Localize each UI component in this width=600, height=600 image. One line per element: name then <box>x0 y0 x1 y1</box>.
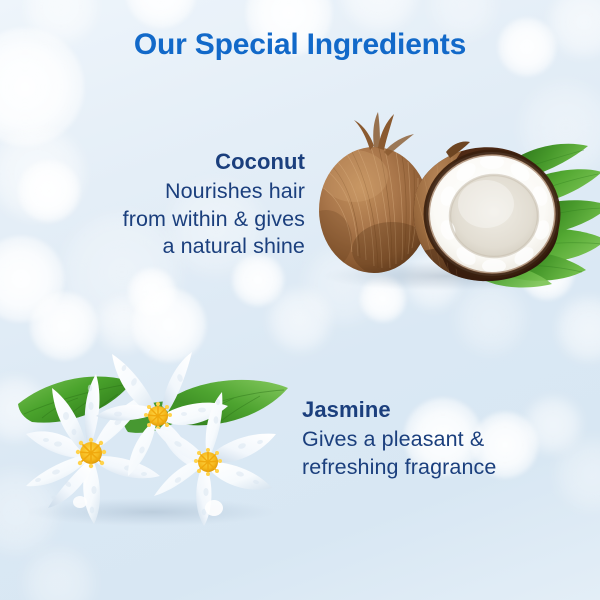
jasmine-text-block: Jasmine Gives a pleasant & refreshing fr… <box>302 396 582 481</box>
stamen-cluster <box>144 402 172 430</box>
jasmine-description-line: Gives a pleasant & <box>302 426 582 454</box>
bokeh-circle <box>132 288 206 362</box>
coconut-title: Coconut <box>35 148 305 176</box>
water-droplet <box>73 496 87 508</box>
jasmine-title: Jasmine <box>302 396 582 424</box>
coconut-description: Nourishes hair from within & gives a nat… <box>35 178 305 261</box>
coconut-text-block: Coconut Nourishes hair from within & giv… <box>35 148 305 261</box>
bokeh-circle <box>30 292 98 360</box>
water-droplet <box>205 500 223 516</box>
coconut-description-line: Nourishes hair <box>35 178 305 206</box>
coconut-description-line: from within & gives <box>35 206 305 234</box>
jasmine-shadow <box>26 498 278 526</box>
bokeh-circle <box>556 296 600 362</box>
bokeh-circle <box>24 548 94 600</box>
jasmine-illustration <box>6 352 298 527</box>
bokeh-circle <box>456 284 526 354</box>
ingredients-banner: Our Special Ingredients <box>0 0 600 600</box>
stamen-cluster <box>76 438 106 468</box>
bokeh-circle <box>126 0 196 28</box>
whole-coconut <box>300 112 432 278</box>
bokeh-circle <box>96 296 152 352</box>
jasmine-description-line: refreshing fragrance <box>302 454 582 482</box>
bokeh-circle <box>232 254 284 306</box>
coconut-description-line: a natural shine <box>35 233 305 261</box>
coconut-illustration <box>296 100 596 290</box>
bokeh-circle <box>268 288 332 352</box>
jasmine-description: Gives a pleasant & refreshing fragrance <box>302 426 582 481</box>
bokeh-circle <box>128 268 176 316</box>
page-title: Our Special Ingredients <box>0 28 600 62</box>
stamen-cluster <box>194 448 222 476</box>
